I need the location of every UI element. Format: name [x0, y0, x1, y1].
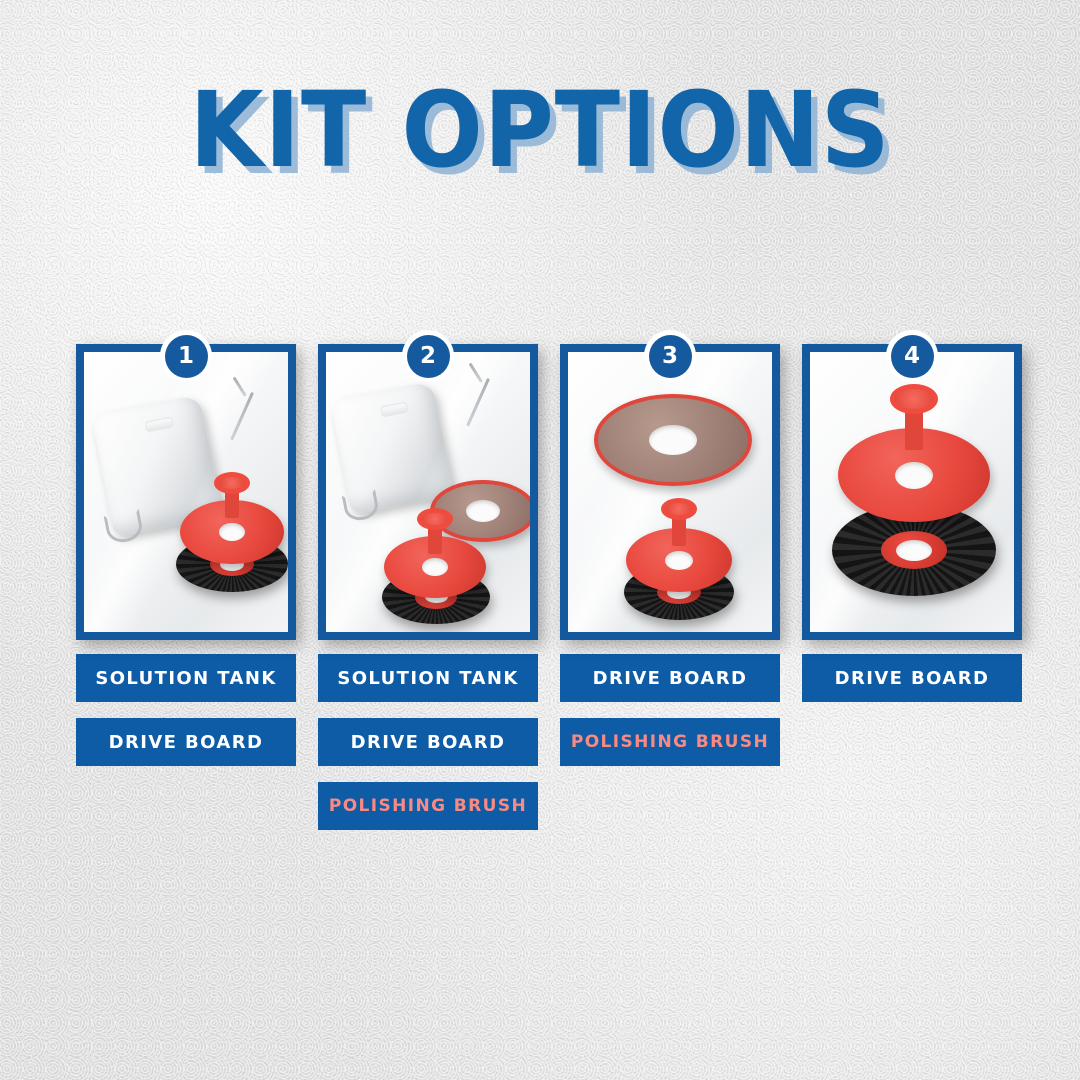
kit-option-card-2[interactable]: 2 [318, 344, 538, 640]
card-photo-2 [326, 352, 530, 632]
option-badge-2: 2 [402, 330, 454, 382]
kit-option-column-1: 1 SOLUTION TANK DRIVE BOARD [76, 344, 296, 830]
option-number-1: 1 [165, 335, 208, 378]
tank-hook-icon [103, 509, 144, 545]
option-number-4: 4 [891, 335, 934, 378]
kit-option-labels-3: DRIVE BOARD POLISHING BRUSH [560, 654, 780, 766]
kit-option-card-4[interactable]: 4 [802, 344, 1022, 640]
kit-item-label[interactable]: SOLUTION TANK [76, 654, 296, 702]
kit-option-column-4: 4 DRIVE BOARD [802, 344, 1022, 830]
card-photo-4 [810, 352, 1014, 632]
hub-ring-icon [214, 472, 250, 494]
wand-tip-icon [469, 363, 483, 383]
kit-item-label-accent[interactable]: POLISHING BRUSH [560, 718, 780, 766]
kit-item-label-accent[interactable]: POLISHING BRUSH [318, 782, 538, 830]
product-artwork-4 [810, 352, 1014, 632]
kit-options-grid: 1 SOLUTION TANK DRIVE BOARD [76, 344, 1004, 830]
option-badge-1: 1 [160, 330, 212, 382]
pad-hole-icon [895, 462, 933, 489]
kit-item-label[interactable]: DRIVE BOARD [76, 718, 296, 766]
tank-hook-icon [342, 489, 381, 523]
kit-item-label[interactable]: SOLUTION TANK [318, 654, 538, 702]
pad-hole-icon [665, 551, 693, 570]
kit-option-card-1[interactable]: 1 [76, 344, 296, 640]
kit-option-labels-1: SOLUTION TANK DRIVE BOARD [76, 654, 296, 766]
brush-hub-icon [881, 531, 947, 569]
polishing-brush-hole-icon [649, 425, 697, 455]
kit-item-label[interactable]: DRIVE BOARD [318, 718, 538, 766]
polishing-brush-hole-icon [466, 500, 500, 522]
option-number-2: 2 [407, 335, 450, 378]
option-number-3: 3 [649, 335, 692, 378]
page-title: KIT OPTIONS [43, 78, 1037, 182]
wand-icon [230, 392, 254, 441]
kit-item-label[interactable]: DRIVE BOARD [802, 654, 1022, 702]
card-photo-1 [84, 352, 288, 632]
kit-option-column-3: 3 DRIVE BOARD POLISHING BRUSH [560, 344, 780, 830]
option-badge-3: 3 [644, 330, 696, 382]
kit-option-labels-2: SOLUTION TANK DRIVE BOARD POLISHING BRUS… [318, 654, 538, 830]
product-artwork-3 [568, 352, 772, 632]
wand-icon [466, 378, 490, 427]
tank-notch-icon [380, 402, 409, 417]
hub-ring-icon [890, 384, 938, 414]
product-artwork-1 [84, 352, 288, 632]
kit-option-labels-4: DRIVE BOARD [802, 654, 1022, 702]
tank-notch-icon [144, 416, 174, 432]
pad-hole-icon [219, 523, 245, 541]
hub-ring-icon [417, 508, 453, 530]
brush-hole-icon [896, 540, 932, 561]
wand-tip-icon [233, 377, 247, 397]
pad-hole-icon [422, 558, 448, 576]
option-badge-4: 4 [886, 330, 938, 382]
kit-option-column-2: 2 SOLUTION TANK DRIVE BOARD POLISHING BR… [318, 344, 538, 830]
product-artwork-2 [326, 352, 530, 632]
hub-ring-icon [661, 498, 697, 520]
kit-item-label[interactable]: DRIVE BOARD [560, 654, 780, 702]
polishing-brush-icon [594, 394, 752, 486]
kit-option-card-3[interactable]: 3 [560, 344, 780, 640]
card-photo-3 [568, 352, 772, 632]
